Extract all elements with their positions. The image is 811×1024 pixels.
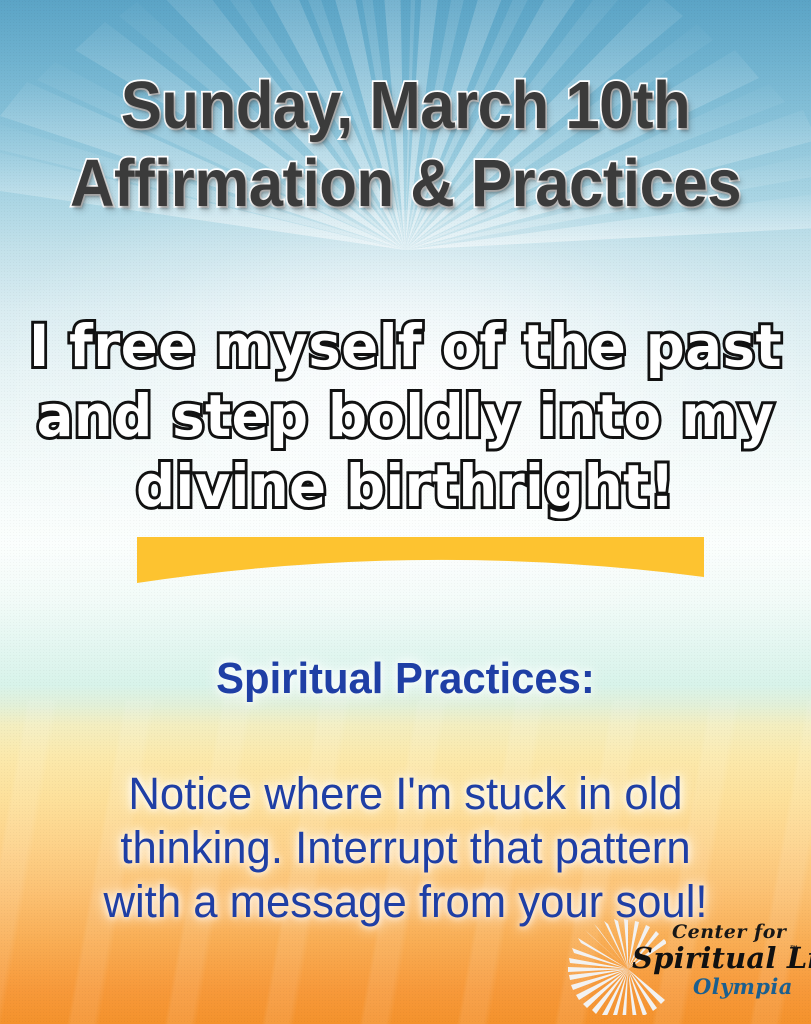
- practices-heading: Spiritual Practices:: [20, 653, 790, 705]
- logo-center-for-text: Center for: [672, 921, 786, 943]
- logo-spiritual-living-text: Spiritual Living: [632, 941, 811, 975]
- trademark-symbol: ™: [790, 944, 798, 953]
- organization-logo: Center for Spiritual Living ™ Olympia: [566, 917, 801, 1017]
- logo-olympia-text: Olympia: [693, 974, 793, 999]
- affirmation-text: I free myself of the past and step boldl…: [24, 311, 786, 521]
- practices-body-text: Notice where I'm stuck in old thinking. …: [12, 767, 799, 929]
- yellow-arc-divider: [137, 537, 704, 585]
- page-title: Sunday, March 10th Affirmation & Practic…: [32, 67, 778, 223]
- poster-canvas: Sunday, March 10th Affirmation & Practic…: [0, 0, 811, 1024]
